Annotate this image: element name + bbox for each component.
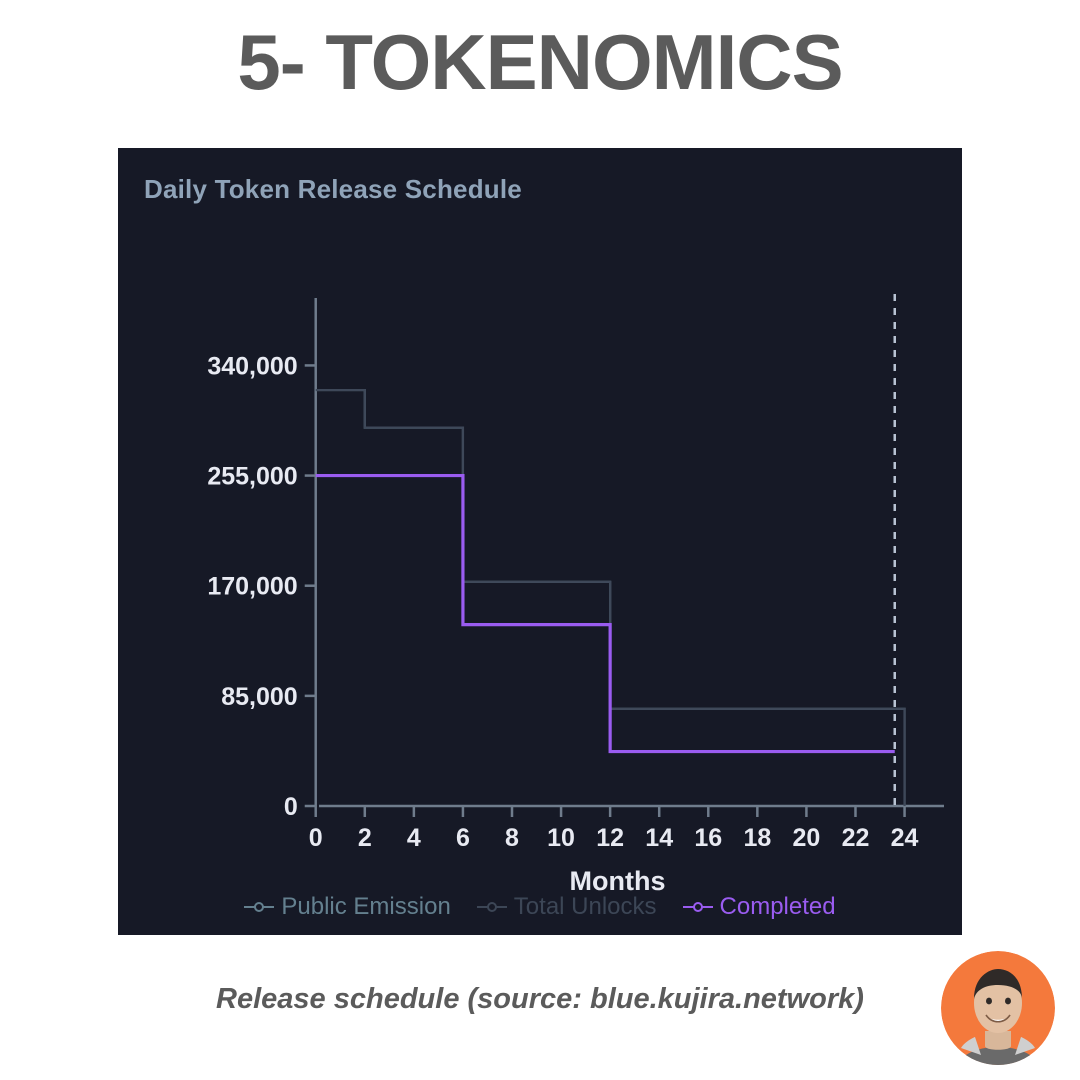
avatar-portrait-icon xyxy=(941,951,1055,1065)
legend-marker-icon xyxy=(477,900,507,914)
legend-label: Public Emission xyxy=(281,893,450,921)
y-axis-tick-label: 255,000 xyxy=(207,463,297,491)
series-line-completed xyxy=(316,476,895,752)
chart-panel: Daily Token Release Schedule 085,000170,… xyxy=(118,148,962,935)
release-schedule-chart: 085,000170,000255,000340,000 02468101214… xyxy=(118,148,962,935)
x-axis-tick-group: 024681012141618202224 xyxy=(309,806,919,852)
y-axis-tick-group: 085,000170,000255,000340,000 xyxy=(207,352,315,821)
y-axis-tick-label: 340,000 xyxy=(207,352,297,380)
y-axis-tick-label: 0 xyxy=(284,793,298,821)
avatar-image xyxy=(941,951,1055,1065)
legend-item-public-emission[interactable]: Public Emission xyxy=(244,893,450,921)
x-axis-tick-label: 2 xyxy=(358,824,372,852)
x-axis-tick-label: 4 xyxy=(407,824,421,852)
x-axis-tick-label: 14 xyxy=(645,824,673,852)
legend-item-completed[interactable]: Completed xyxy=(683,893,836,921)
x-axis-tick-label: 0 xyxy=(309,824,323,852)
x-axis-tick-label: 8 xyxy=(505,824,519,852)
legend-marker-icon xyxy=(244,900,274,914)
x-axis-tick-label: 20 xyxy=(793,824,821,852)
chart-legend: Public EmissionTotal UnlocksCompleted xyxy=(118,893,962,921)
page-title: 5- TOKENOMICS xyxy=(0,22,1080,104)
legend-marker-icon xyxy=(683,900,713,914)
x-axis-tick-label: 24 xyxy=(891,824,919,852)
legend-item-total-unlocks[interactable]: Total Unlocks xyxy=(477,893,657,921)
y-axis-tick-label: 170,000 xyxy=(207,573,297,601)
x-axis-label: Months xyxy=(570,866,666,896)
y-axis-tick-label: 85,000 xyxy=(221,683,297,711)
x-axis-tick-label: 18 xyxy=(743,824,771,852)
legend-label: Completed xyxy=(720,893,836,921)
x-axis-tick-label: 10 xyxy=(547,824,575,852)
x-axis-tick-label: 12 xyxy=(596,824,624,852)
data-series-group xyxy=(316,390,905,806)
x-axis-tick-label: 16 xyxy=(694,824,722,852)
axis-lines xyxy=(316,298,944,806)
avatar xyxy=(936,946,1060,1070)
chart-source-caption: Release schedule (source: blue.kujira.ne… xyxy=(0,983,1080,1016)
chart-plot-area: 085,000170,000255,000340,000 02468101214… xyxy=(118,148,962,935)
legend-label: Total Unlocks xyxy=(514,893,657,921)
x-axis-tick-label: 22 xyxy=(842,824,870,852)
x-axis-tick-label: 6 xyxy=(456,824,470,852)
